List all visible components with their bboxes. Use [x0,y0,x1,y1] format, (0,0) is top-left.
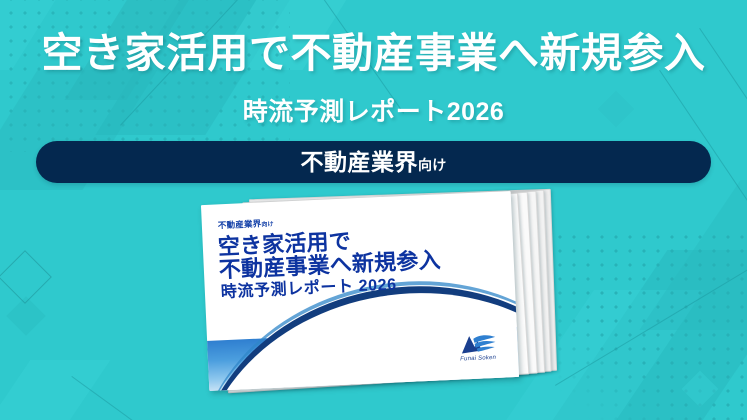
banner-subtitle: 時流予測レポート2026 [0,100,747,125]
pill-sub-label: 向け [418,158,447,172]
cover-eyebrow: 不動産業界向け [218,219,274,231]
funai-soken-logo-text: Funai Soken [452,355,504,363]
pill-main-label: 不動産業界 [300,151,418,174]
promotional-banner: 空き家活用で不動産事業へ新規参入 時流予測レポート2026 不動産業界 向け 不… [0,0,747,420]
banner-headline: 空き家活用で不動産事業へ新規参入 [0,33,747,74]
report-book-stack: 不動産業界向け 空き家活用で 不動産事業へ新規参入 時流予測レポート 2026 … [196,190,566,405]
cover-eyebrow-main: 不動産業界 [218,218,262,230]
bg-diamond-outline-left [0,250,52,304]
cover-title: 空き家活用で 不動産事業へ新規参入 [217,225,441,282]
bg-dot-pattern-top-left [0,0,290,152]
report-cover: 不動産業界向け 空き家活用で 不動産事業へ新規参入 時流予測レポート 2026 … [201,191,519,391]
funai-soken-wave-icon [457,332,498,356]
target-audience-pill: 不動産業界 向け [36,141,711,183]
bg-parallelogram-9 [0,360,110,420]
funai-soken-logo: Funai Soken [451,332,504,368]
cover-eyebrow-small: 向け [261,222,274,229]
